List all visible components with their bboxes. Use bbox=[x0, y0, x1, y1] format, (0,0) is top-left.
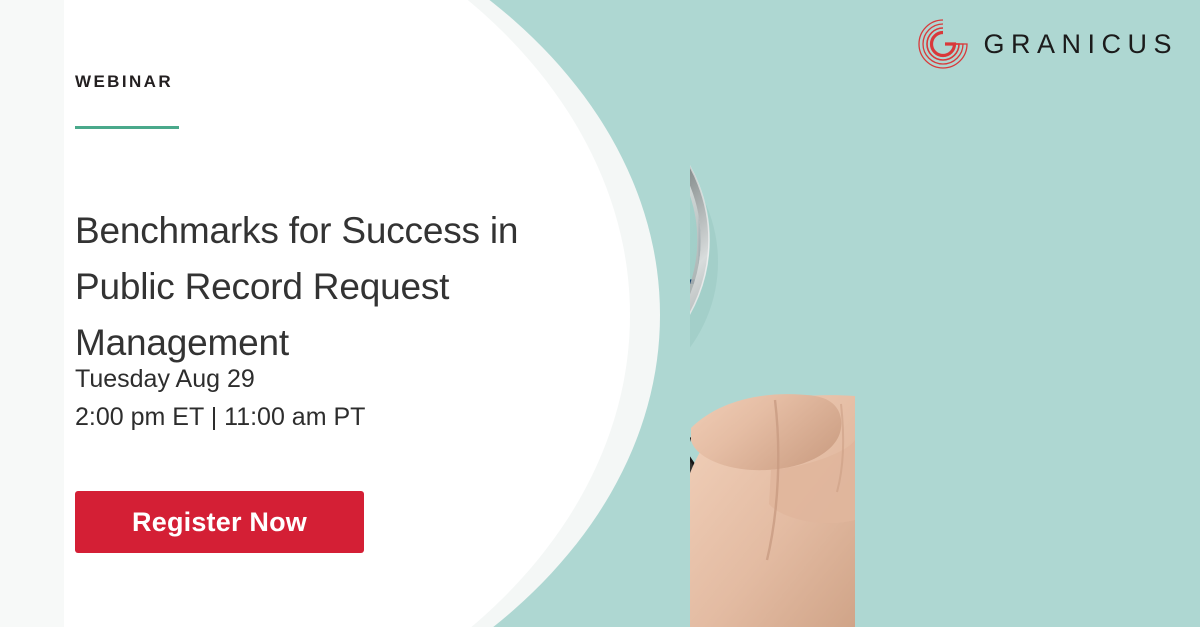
event-datetime: Tuesday Aug 29 2:00 pm ET | 11:00 am PT bbox=[75, 360, 545, 436]
eyebrow-label: WEBINAR bbox=[75, 72, 173, 92]
granicus-logo[interactable]: GRANICUS bbox=[917, 18, 1178, 70]
magnifier-photo bbox=[690, 0, 1200, 627]
event-time: 2:00 pm ET | 11:00 am PT bbox=[75, 398, 545, 436]
promo-banner: WEBINAR Benchmarks for Success in Public… bbox=[0, 0, 1200, 627]
register-now-button[interactable]: Register Now bbox=[75, 491, 364, 553]
granicus-g-rings-icon bbox=[917, 18, 969, 70]
event-date: Tuesday Aug 29 bbox=[75, 360, 545, 398]
brand-wordmark: GRANICUS bbox=[983, 29, 1178, 60]
left-edge-strip bbox=[0, 0, 64, 627]
promo-content: WEBINAR Benchmarks for Success in Public… bbox=[75, 0, 595, 627]
accent-rule bbox=[75, 126, 179, 129]
page-title: Benchmarks for Success in Public Record … bbox=[75, 203, 545, 371]
hand-holding-icon bbox=[690, 394, 855, 627]
